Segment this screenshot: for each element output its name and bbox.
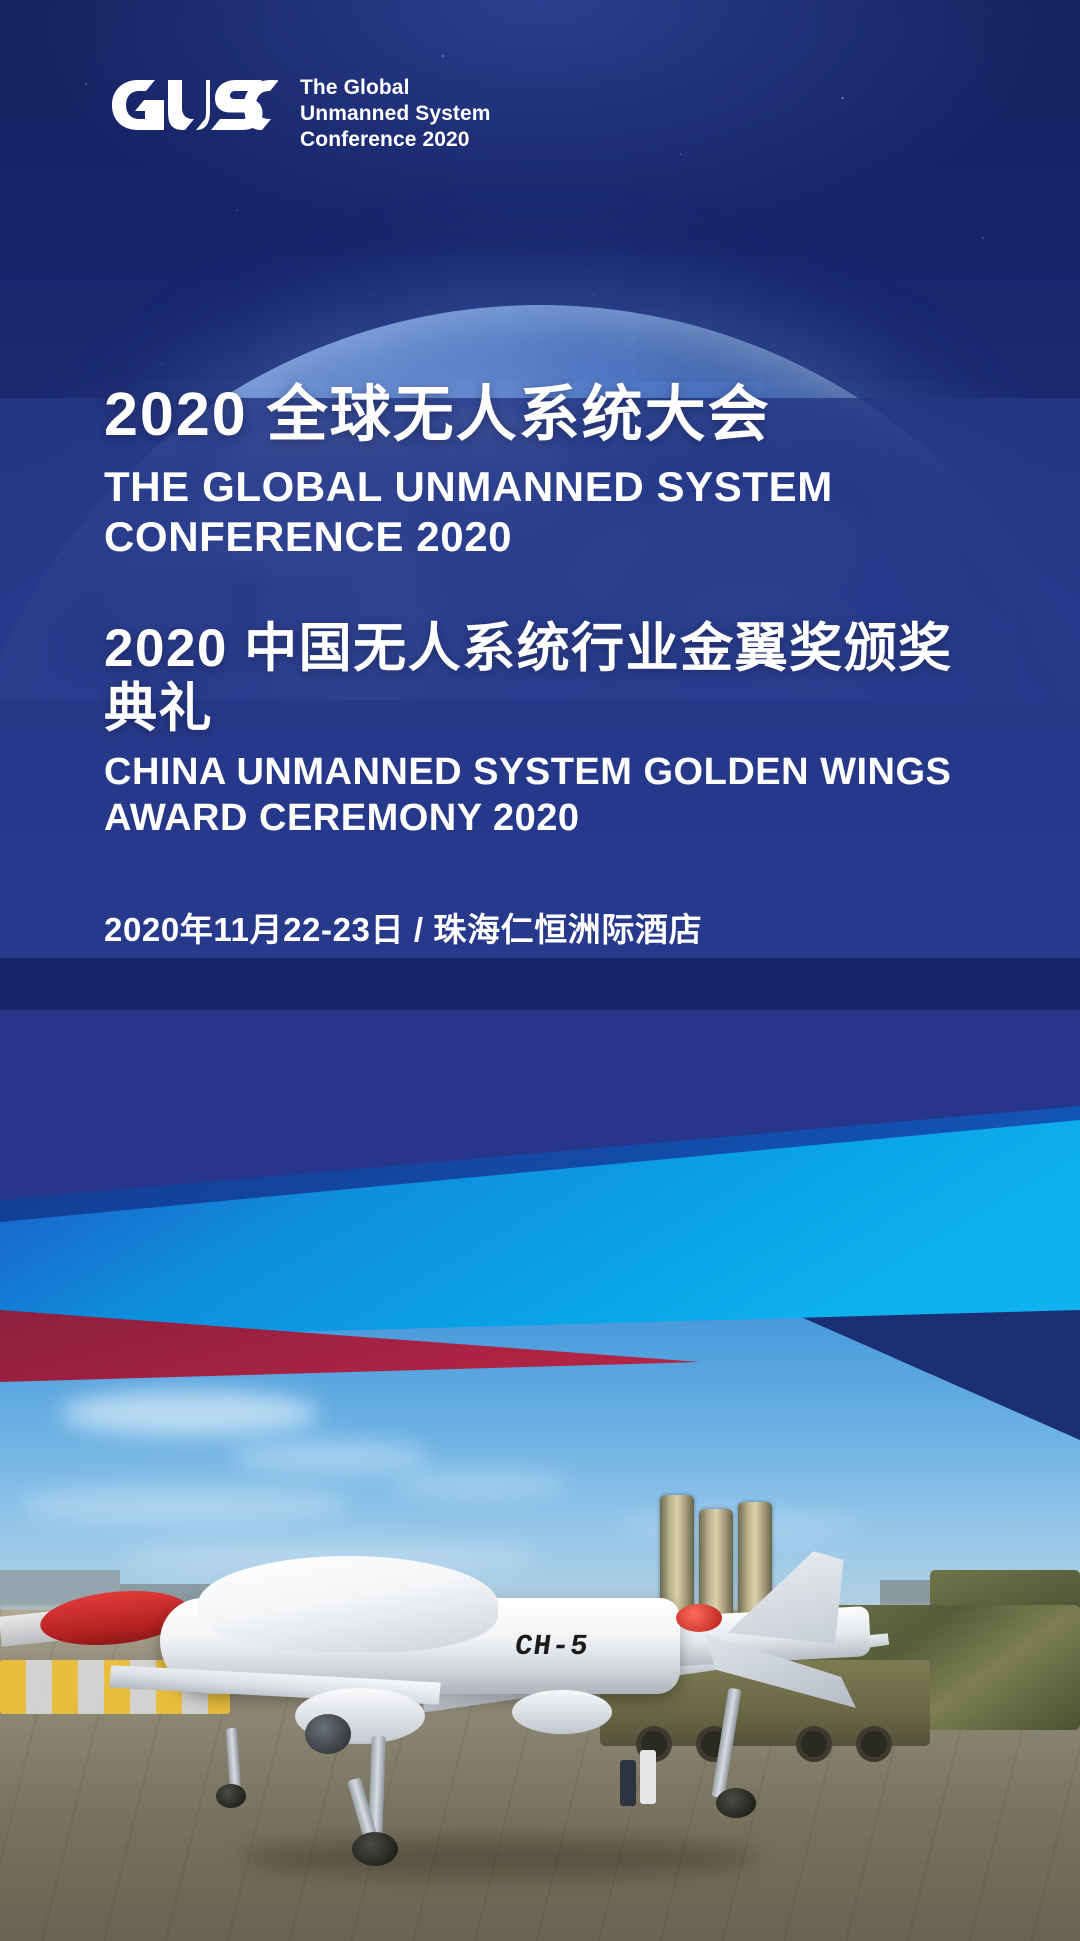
cloud [230,1440,430,1474]
airfield-photo: CH-5 [0,1140,1080,1941]
drone-sensor-lens-icon [305,1714,351,1754]
secondary-title-chinese: 2020 中国无人系统行业金翼奖颁奖典礼 [104,619,1004,738]
primary-title-chinese: 2020 全球无人系统大会 [104,380,1004,448]
cloud [390,1470,570,1498]
event-date-venue: 2020年11月22-23日 / 珠海仁恒洲际酒店 [104,903,1004,951]
drone-tire [716,1788,756,1818]
drone-red-marker-light [676,1604,722,1632]
drone-vertical-tail-fin [716,1542,845,1644]
drone-tire [352,1832,398,1866]
drone-nose-gear [226,1728,241,1793]
drone-rear-gear [711,1688,741,1799]
drone-underwing-pod [512,1690,612,1734]
conference-poster: The Global Unmanned System Conference 20… [0,0,1080,1941]
drone-shadow [240,1838,760,1878]
person-figure [620,1760,636,1806]
person-figure [640,1750,656,1804]
poster-text-content: 2020 全球无人系统大会 THE GLOBAL UNMANNED SYSTEM… [104,380,1004,951]
gusc-logo: The Global Unmanned System Conference 20… [108,74,491,153]
secondary-title-english: CHINA UNMANNED SYSTEM GOLDEN WINGS AWARD… [104,750,1004,841]
gusc-logo-mark-icon [108,74,278,136]
aircraft-marking-ch5: CH-5 [513,1630,591,1663]
cloud [60,1390,320,1436]
primary-title-english: THE GLOBAL UNMANNED SYSTEM CONFERENCE 20… [104,462,1004,561]
gusc-logo-tagline: The Global Unmanned System Conference 20… [300,74,491,153]
drone-nose-dome [198,1556,498,1652]
ch5-drone: CH-5 [120,1538,880,1868]
drone-tire [216,1784,246,1808]
secondary-headline-block: 2020 中国无人系统行业金翼奖颁奖典礼 CHINA UNMANNED SYST… [104,619,1004,841]
cloud [20,1485,350,1525]
